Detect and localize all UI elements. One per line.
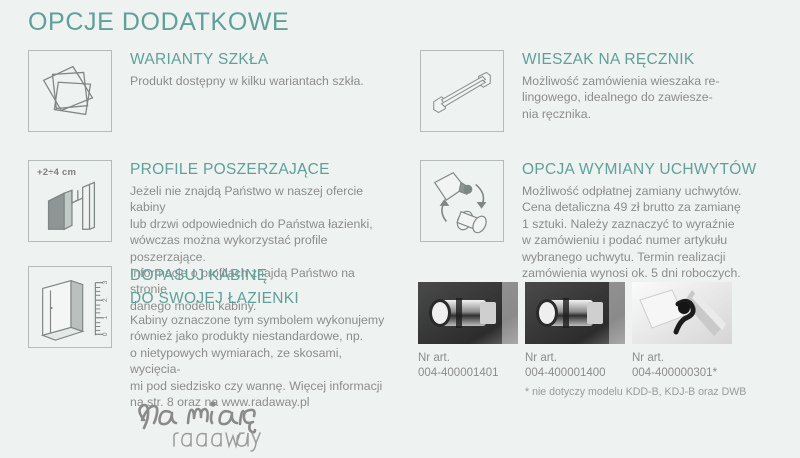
product-caption: Nr art. 004-400001401 [418,351,518,380]
page-title: OPCJE DODATKOWE [28,8,289,37]
feature-cabin-heading-line1: DOPASUJ KABINĘ [130,266,388,285]
towel-rail-icon [420,50,504,132]
custom-cabin-ruler-icon: 3 2 1 0 [28,266,112,348]
feature-handle-body: OPCJA WYMIANY UCHWYTÓW Możliwość odpłatn… [522,160,757,281]
profile-size-label: +2÷4 cm [37,167,76,178]
feature-profile-heading: PROFILE POSZERZAJĄCE [130,160,388,179]
product-caption: Nr art. 004-400001400 [525,351,625,380]
feature-cabin-body: DOPASUJ KABINĘ DO SWOJEJ ŁAZIENKI Kabiny… [130,266,388,410]
handle-swap-icon [420,160,504,242]
products-footnote: * nie dotyczy modelu KDD-B, KDJ-B oraz D… [525,386,746,398]
svg-text:2: 2 [102,298,109,302]
na-miare-radaway-logo [126,390,326,452]
svg-text:0: 0 [102,332,109,336]
feature-towel-text: Możliwość zamówienia wieszaka re- lingow… [522,73,720,122]
feature-towel-body: WIESZAK NA RĘCZNIK Możliwość zamówienia … [522,50,720,122]
feature-towel-heading: WIESZAK NA RĘCZNIK [522,50,720,69]
additional-options-page: OPCJE DODATKOWE WARIANTY SZKŁA Produkt d… [0,0,800,458]
feature-handle-text: Możliwość odpłatnej zamiany uchwytów. Ce… [522,183,757,281]
svg-text:1: 1 [102,316,109,320]
product-item: Nr art. 004-400000301* [632,282,732,380]
product-item: Nr art. 004-400001401 [418,282,518,380]
glass-variants-icon [28,50,112,132]
chrome-knob-handle-photo-dark [418,282,518,344]
svg-text:3: 3 [102,281,109,285]
product-caption: Nr art. 004-400000301* [632,351,732,380]
chrome-knob-handle-photo-dark-2 [525,282,625,344]
widening-profile-icon: +2÷4 cm [28,160,112,242]
feature-glass-text: Produkt dostępny w kilku wariantach szkł… [130,73,364,89]
product-item: Nr art. 004-400001400 [525,282,625,380]
black-hook-handle-photo-light [632,282,732,344]
feature-glass-body: WARIANTY SZKŁA Produkt dostępny w kilku … [130,50,364,89]
feature-cabin-heading-line2: DO SWOJEJ ŁAZIENKI [130,289,388,308]
feature-glass-heading: WARIANTY SZKŁA [130,50,364,69]
feature-handle-heading: OPCJA WYMIANY UCHWYTÓW [522,160,757,179]
